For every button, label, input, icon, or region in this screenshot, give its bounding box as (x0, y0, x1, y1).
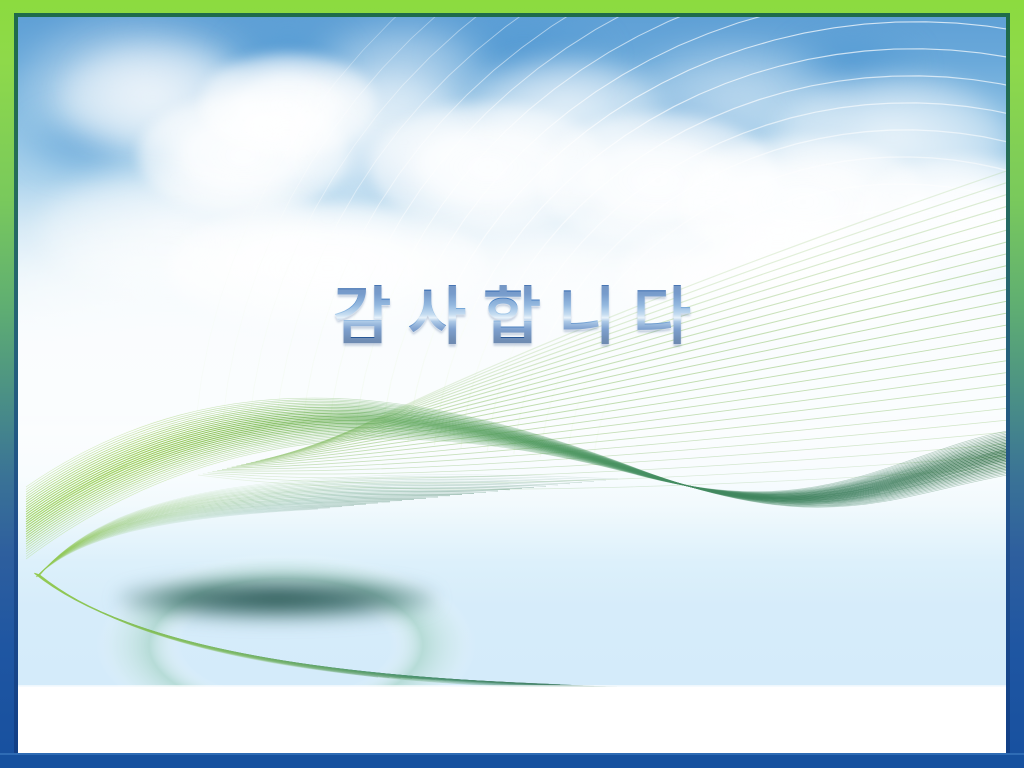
slide-title: 감사합니다 (316, 285, 708, 348)
title-reflection-box: 감사합니다 (18, 348, 1006, 390)
white-band-edge (18, 685, 1006, 688)
bottom-blue-bar (0, 755, 1024, 768)
title-block: 감사합니다 감사합니다 (18, 285, 1006, 390)
bottom-white-band (18, 687, 1006, 755)
slide-canvas: 감사합니다 감사합니다 (18, 17, 1006, 755)
presentation-slide: 감사합니다 감사합니다 (0, 0, 1024, 768)
slide-title-reflection: 감사합니다 (316, 348, 708, 350)
podium-shadow-ellipse (118, 579, 436, 619)
